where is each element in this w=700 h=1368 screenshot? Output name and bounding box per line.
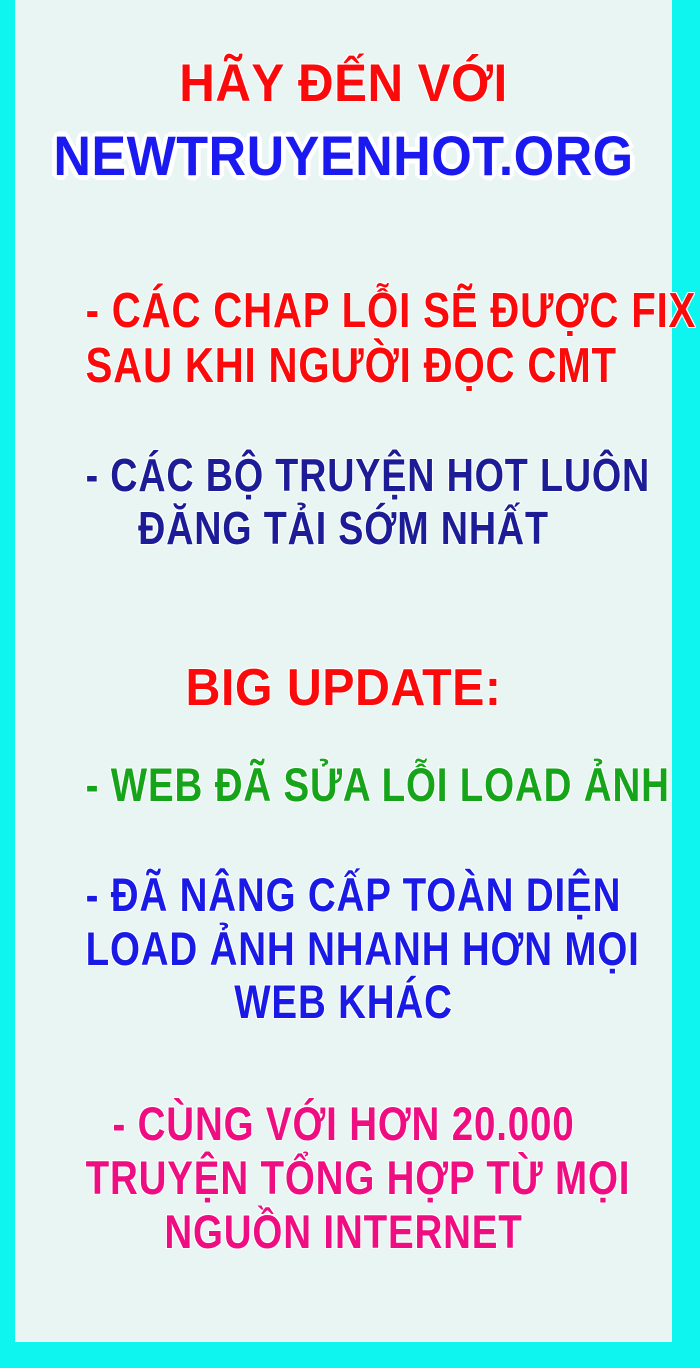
update-pink-line-1: - CÙNG VỚI HƠN 20.000	[86, 1099, 602, 1149]
notice-navy-line-1: - CÁC BỘ TRUYỆN HOT LUÔN	[86, 451, 602, 500]
notice-navy-line-2: ĐĂNG TẢI SỚM NHẤT	[86, 504, 602, 553]
update-blue-line-1: - ĐÃ NÂNG CẤP TOÀN DIỆN	[86, 870, 602, 920]
update-blue-line-2: LOAD ẢNH NHANH HƠN MỌI	[86, 924, 602, 974]
notice-red-line-1: - CÁC CHAP LỖI SẼ ĐƯỢC FIX	[86, 286, 602, 338]
headline-text: HÃY ĐẾN VỚI	[51, 56, 636, 112]
big-update-heading: BIG UPDATE:	[51, 661, 636, 716]
promo-poster: HÃY ĐẾN VỚI NEWTRUYENHOT.ORG - CÁC CHAP …	[0, 0, 700, 1368]
update-blue-line-3: WEB KHÁC	[86, 977, 602, 1027]
notice-red-line-2: SAU KHI NGƯỜI ĐỌC CMT	[86, 341, 602, 393]
update-green-line-1: - WEB ĐÃ SỬA LỖI LOAD ẢNH	[86, 760, 602, 810]
poster-panel: HÃY ĐẾN VỚI NEWTRUYENHOT.ORG - CÁC CHAP …	[15, 0, 672, 1342]
update-pink-line-2: TRUYỆN TỔNG HỢP TỪ MỌI	[86, 1153, 602, 1203]
site-url-text[interactable]: NEWTRUYENHOT.ORG	[51, 126, 636, 185]
update-pink-line-3: NGUỒN INTERNET	[86, 1207, 602, 1257]
